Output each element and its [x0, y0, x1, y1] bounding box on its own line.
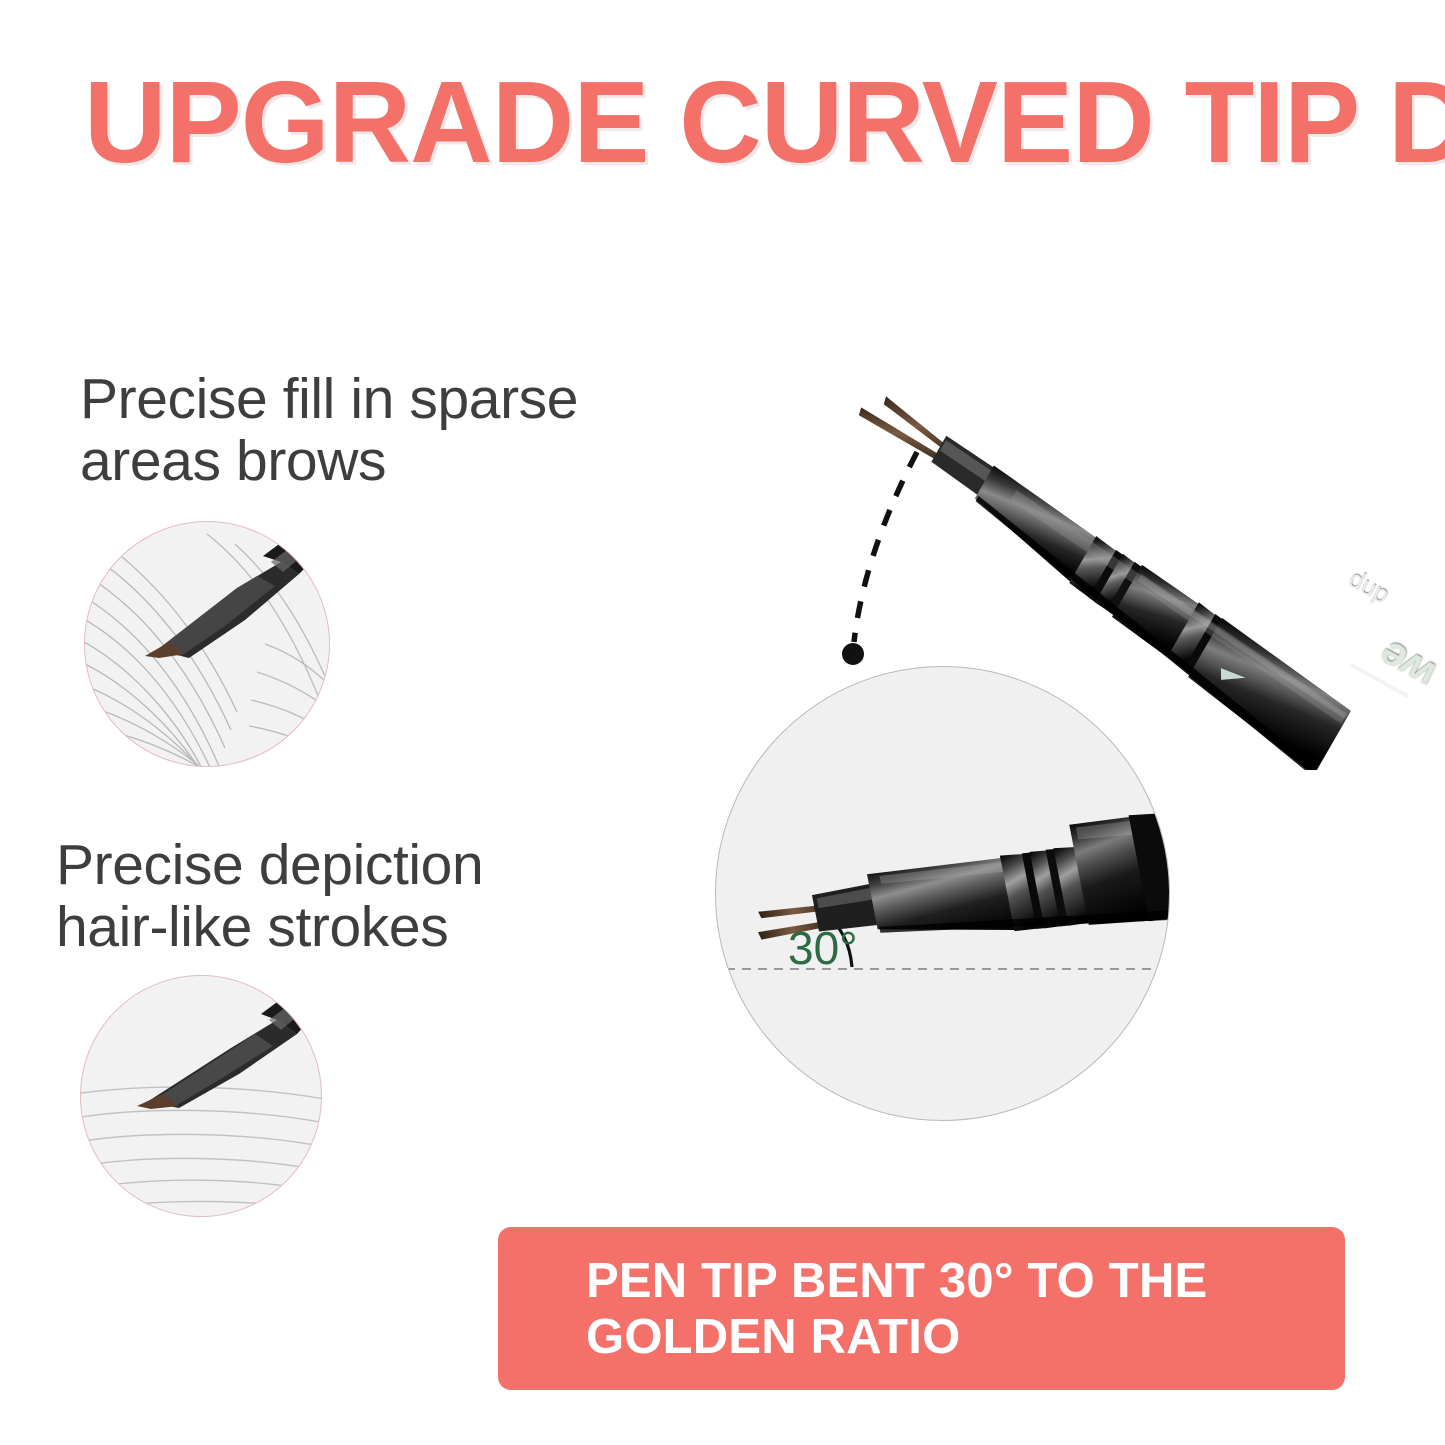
- magnified-pen-tip-diagram: [716, 667, 1169, 1120]
- brow-hair-swatch-curved: [84, 521, 330, 767]
- feature-banner-text: PEN TIP BENT 30° TO THE GOLDEN RATIO: [586, 1253, 1345, 1365]
- feature-caption-line-2: hair-like strokes: [56, 896, 656, 958]
- brow-hair-lines-curved-icon: [85, 522, 329, 766]
- feature-banner-line-1: PEN TIP BENT 30° TO THE: [586, 1253, 1345, 1309]
- feature-caption-hair-strokes: Precise depiction hair-like strokes: [56, 834, 656, 958]
- angle-value-label: 30°: [788, 925, 858, 971]
- feature-caption-sparse-fill: Precise fill in sparse areas brows: [80, 368, 680, 492]
- feature-banner: PEN TIP BENT 30° TO THE GOLDEN RATIO: [498, 1227, 1345, 1390]
- infographic-canvas: UPGRADE CURVED TIP DESIGN Precise fill i…: [0, 0, 1445, 1445]
- feature-caption-line-1: Precise fill in sparse: [80, 368, 680, 430]
- brow-hair-lines-straight-icon: [81, 976, 321, 1216]
- brush-tip-shape: [145, 522, 329, 658]
- feature-banner-line-2: GOLDEN RATIO: [586, 1309, 1345, 1365]
- feature-caption-line-1: Precise depiction: [56, 834, 656, 896]
- pen-tip-angle-magnifier: 30°: [715, 666, 1170, 1121]
- feature-caption-line-2: areas brows: [80, 430, 680, 492]
- page-title: UPGRADE CURVED TIP DESIGN: [84, 66, 1365, 178]
- brow-hair-swatch-straight: [80, 975, 322, 1217]
